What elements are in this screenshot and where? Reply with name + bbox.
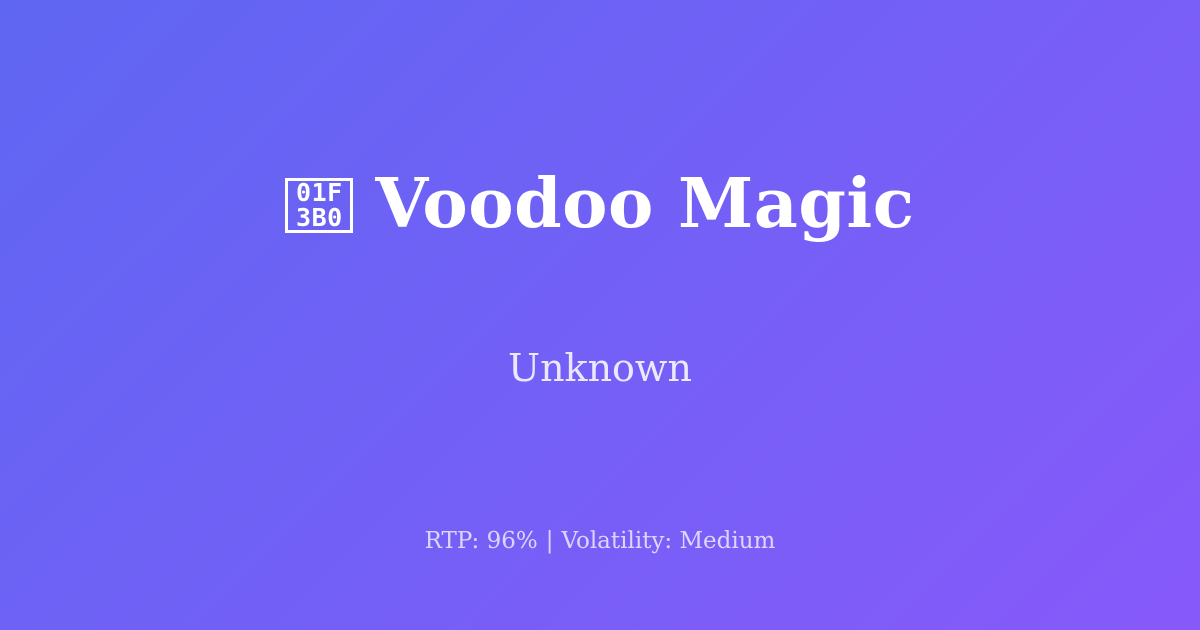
card-main-content: 01F 3B0 Voodoo Magic Unknown: [0, 0, 1200, 500]
game-og-card: 01F 3B0 Voodoo Magic Unknown RTP: 96% | …: [0, 0, 1200, 630]
volatility-value: Medium: [680, 528, 776, 554]
rtp-value: 96%: [487, 528, 538, 554]
title-row: 01F 3B0 Voodoo Magic: [285, 124, 914, 283]
slot-machine-icon-codepoint-bottom: 3B0: [296, 205, 343, 230]
game-provider: Unknown: [508, 346, 692, 390]
game-meta-line: RTP: 96% | Volatility: Medium: [425, 528, 776, 554]
meta-separator: |: [538, 528, 562, 554]
rtp-label: RTP:: [425, 528, 480, 554]
card-footer: RTP: 96% | Volatility: Medium: [0, 528, 1200, 554]
slot-machine-icon: 01F 3B0: [285, 178, 353, 233]
page-title: Voodoo Magic: [375, 170, 914, 238]
volatility-label: Volatility:: [561, 528, 672, 554]
slot-machine-icon-codepoint-top: 01F: [296, 180, 343, 205]
